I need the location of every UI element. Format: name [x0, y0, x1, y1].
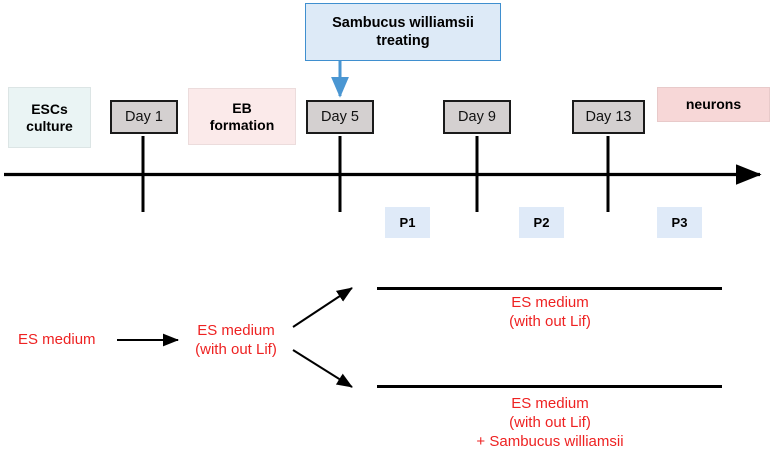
- day-box-day-5: Day 5: [306, 100, 374, 134]
- media-second-label: ES medium (with out Lif): [180, 322, 292, 360]
- passage-chip-label: P3: [672, 215, 688, 230]
- neurons-text: neurons: [686, 96, 741, 112]
- day-box-label: Day 1: [125, 110, 163, 125]
- passage-chip-label: P1: [400, 215, 416, 230]
- day-box-label: Day 5: [321, 110, 359, 125]
- esc-culture-line-2: culture: [26, 118, 73, 134]
- sambucus-treating-callout: Sambucus williamsii treating: [305, 3, 501, 61]
- eb-formation-label: EB formation: [188, 88, 296, 145]
- media-start-label: ES medium: [18, 331, 118, 350]
- neurons-label: neurons: [657, 87, 770, 122]
- branch-bottom-line-1: ES medium: [430, 395, 670, 414]
- passage-chip-p2: P2: [519, 207, 564, 238]
- day-box-day-1: Day 1: [110, 100, 178, 134]
- media-second-line-2: (with out Lif): [180, 341, 292, 360]
- day-box-day-13: Day 13: [572, 100, 645, 134]
- media-branch-arrow-top: [293, 288, 352, 327]
- media-second-line-1: ES medium: [180, 322, 292, 341]
- esc-culture-line-1: ESCs: [31, 101, 68, 117]
- diagram-canvas: Sambucus williamsii treating ESCs cultur…: [0, 0, 784, 453]
- callout-line-2: treating: [376, 32, 429, 50]
- day-box-label: Day 9: [458, 110, 496, 125]
- eb-formation-line-2: formation: [210, 117, 275, 133]
- day-box-label: Day 13: [586, 110, 632, 125]
- branch-top-line-2: (with out Lif): [430, 313, 670, 332]
- passage-chip-p3: P3: [657, 207, 702, 238]
- branch-bottom-line-3: + Sambucus williamsii: [430, 433, 670, 452]
- branch-top-line-1: ES medium: [430, 294, 670, 313]
- passage-chip-label: P2: [534, 215, 550, 230]
- passage-chip-p1: P1: [385, 207, 430, 238]
- branch-bottom-label: ES medium (with out Lif) + Sambucus will…: [430, 395, 670, 451]
- media-start-text: ES medium: [18, 331, 96, 348]
- day-box-day-9: Day 9: [443, 100, 511, 134]
- media-branch-arrow-bottom: [293, 350, 352, 387]
- esc-culture-label: ESCs culture: [8, 87, 91, 148]
- callout-line-1: Sambucus williamsii: [332, 14, 474, 32]
- branch-bottom-line-2: (with out Lif): [430, 414, 670, 433]
- branch-top-label: ES medium (with out Lif): [430, 294, 670, 332]
- eb-formation-line-1: EB: [232, 100, 251, 116]
